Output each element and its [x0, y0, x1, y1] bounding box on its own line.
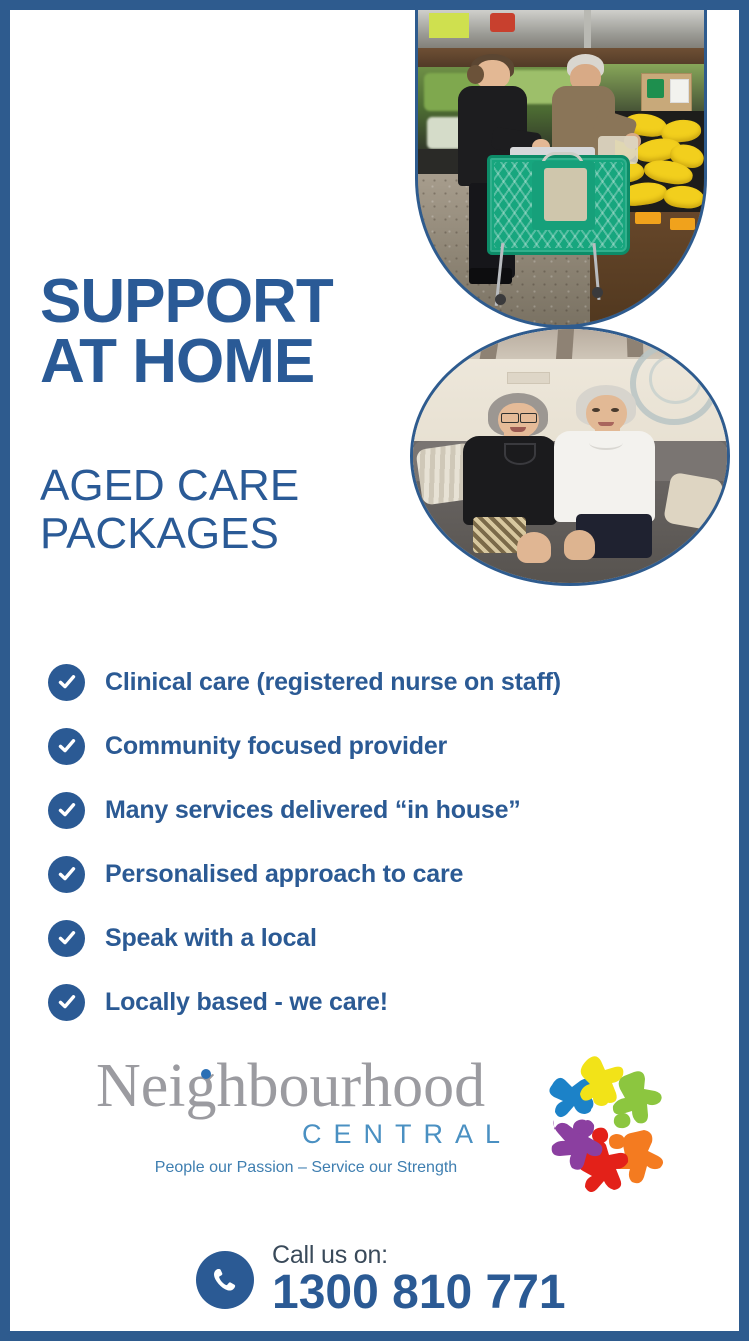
grocery-scene [418, 10, 704, 325]
six-people-star-logo-mark [524, 1042, 674, 1192]
box-label-white [670, 79, 689, 103]
list-item-label: Community focused provider [105, 732, 447, 761]
woman-right-eye [592, 408, 600, 412]
brand-logo: Neighbourhood CENTRAL People our Passion… [96, 1055, 516, 1177]
list-item-label: Speak with a local [105, 924, 317, 953]
check-circle-icon [48, 664, 85, 701]
grocery-shopping-photo [415, 10, 707, 328]
store-sign [429, 13, 469, 38]
glasses-lens-left [501, 413, 519, 424]
list-item-label: Clinical care (registered nurse on staff… [105, 668, 561, 697]
box-label-green [647, 79, 664, 98]
logo-figure-green [613, 1071, 662, 1128]
glasses-lens-right [520, 413, 538, 424]
wall-clock-inner [649, 354, 702, 403]
headline: SUPPORT AT HOME [40, 272, 430, 392]
list-item: Many services delivered “in house” [48, 778, 738, 842]
logo-wordmark: Neighbourhood [96, 1052, 485, 1120]
woman-right-smile [598, 422, 614, 427]
headline-line-2: AT HOME [40, 332, 430, 392]
staff-hair-bun [467, 65, 484, 84]
price-card [670, 218, 696, 231]
store-display-red [490, 13, 516, 32]
check-circle-icon [48, 856, 85, 893]
list-item: Personalised approach to care [48, 842, 738, 906]
list-item-label: Many services delivered “in house” [105, 796, 521, 825]
subheadline: AGED CARE PACKAGES [40, 462, 430, 557]
woman-left-knee [517, 532, 552, 562]
wall-frame [507, 372, 550, 384]
call-to-action[interactable]: Call us on: 1300 810 771 [196, 1242, 566, 1319]
ceiling-beam [626, 329, 643, 357]
list-item: Locally based - we care! [48, 970, 738, 1034]
logo-tagline: People our Passion – Service our Strengt… [96, 1159, 516, 1177]
list-item-label: Personalised approach to care [105, 860, 463, 889]
two-women-couch-photo [410, 326, 730, 586]
groceries-in-bag [544, 168, 587, 222]
logo-wordmark-wrap: Neighbourhood [96, 1055, 516, 1117]
list-item: Community focused provider [48, 714, 738, 778]
woman-right-knee [564, 530, 595, 560]
cushion [663, 472, 724, 531]
check-circle-icon [48, 792, 85, 829]
staff-shoe [469, 268, 512, 284]
phone-number[interactable]: 1300 810 771 [272, 1268, 566, 1318]
list-item-label: Locally based - we care! [105, 988, 388, 1017]
subheadline-line-1: AGED CARE [40, 462, 430, 510]
woman-left-smile [510, 427, 526, 432]
aged-care-poster: SUPPORT AT HOME AGED CARE PACKAGES Clini… [0, 0, 749, 1341]
headline-line-1: SUPPORT [40, 272, 430, 332]
list-item: Clinical care (registered nurse on staff… [48, 650, 738, 714]
logo-i-dot [201, 1069, 211, 1079]
ceiling-beam [584, 10, 591, 51]
feature-list: Clinical care (registered nurse on staff… [48, 650, 738, 1034]
trolley-wheel [495, 294, 506, 305]
price-card [635, 212, 661, 225]
check-circle-icon [48, 728, 85, 765]
call-text-group: Call us on: 1300 810 771 [272, 1242, 566, 1319]
check-circle-icon [48, 920, 85, 957]
call-label: Call us on: [272, 1242, 566, 1268]
check-circle-icon [48, 984, 85, 1021]
list-item: Speak with a local [48, 906, 738, 970]
ceiling-beam [556, 329, 574, 359]
woman-right-eye [611, 408, 619, 412]
subheadline-line-2: PACKAGES [40, 510, 430, 558]
phone-icon[interactable] [196, 1251, 254, 1309]
logo-subword: CENTRAL [96, 1119, 516, 1150]
